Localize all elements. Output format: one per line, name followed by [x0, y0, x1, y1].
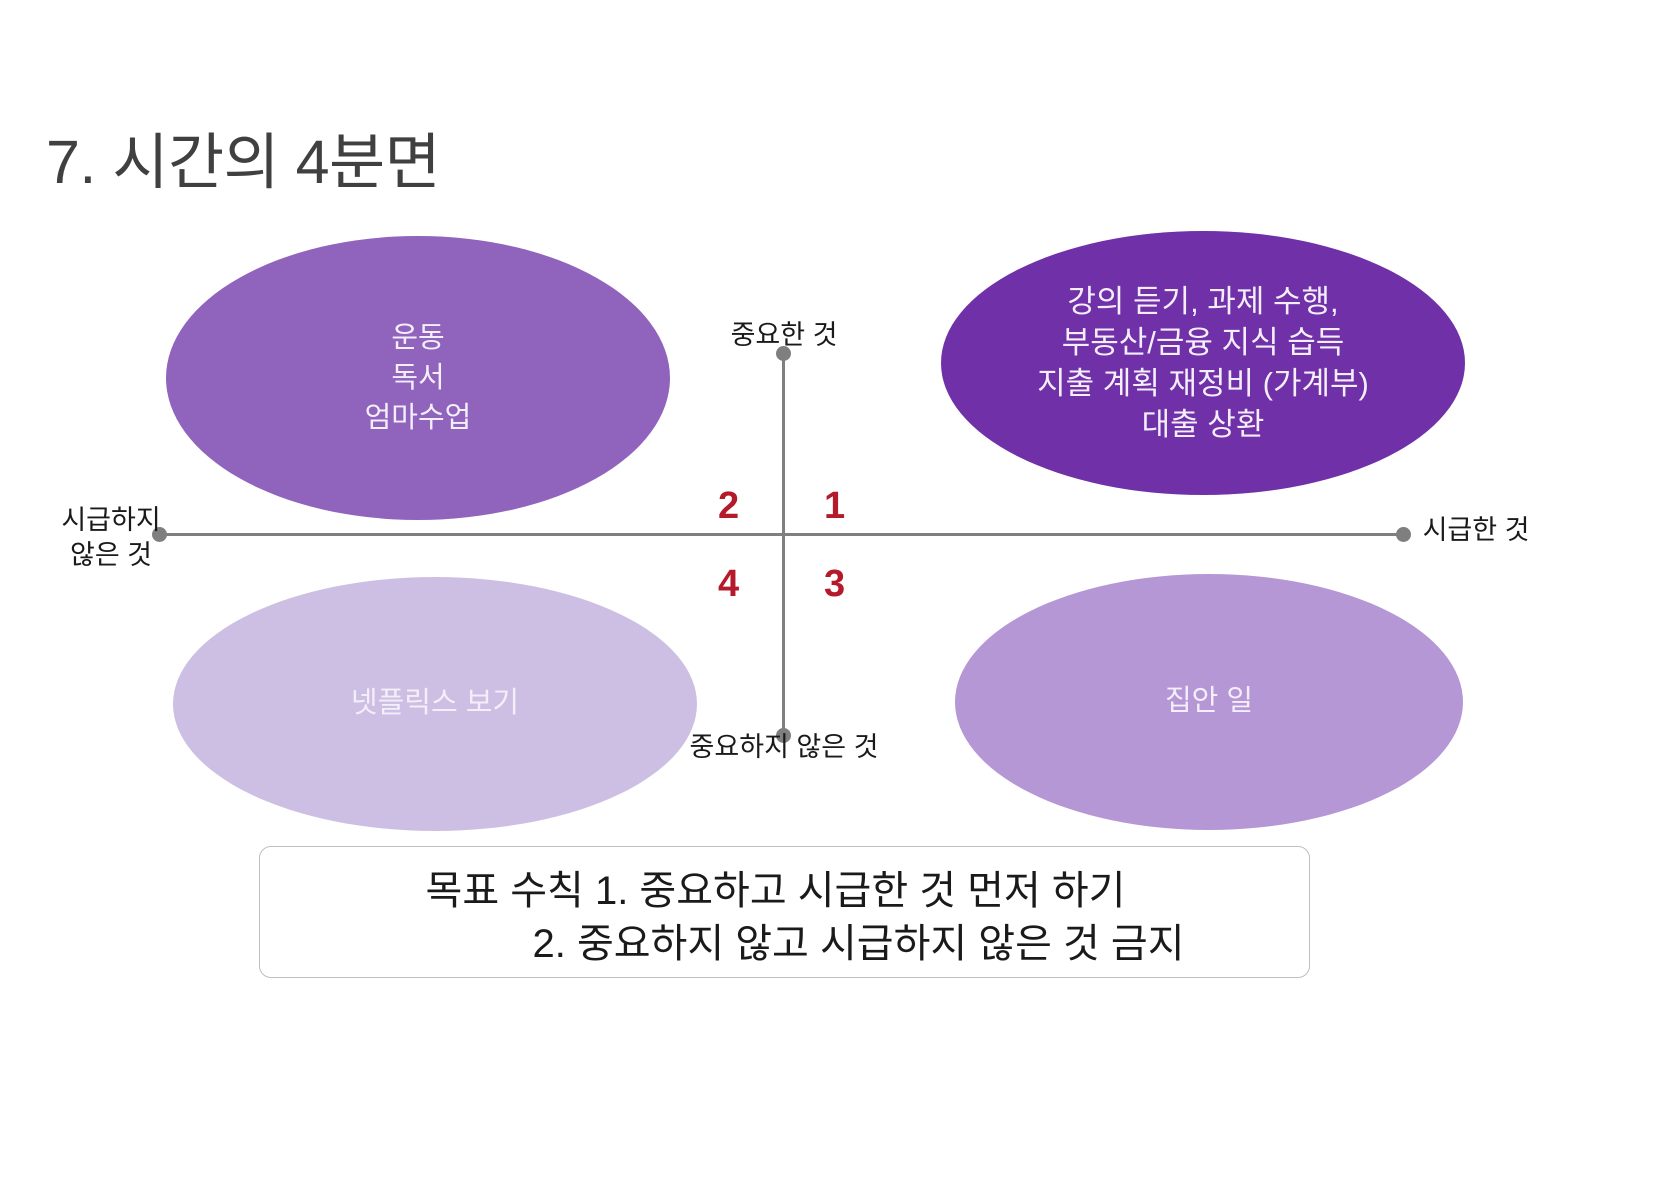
- goal-rule-line-2: 2. 중요하지 않고 시급하지 않은 것 금지: [288, 918, 1281, 971]
- vertical-axis-line: [782, 352, 785, 735]
- quadrant-4-ellipse[interactable]: 넷플릭스 보기: [173, 577, 697, 831]
- goal-rules-box: 목표 수칙 1. 중요하고 시급한 것 먼저 하기 2. 중요하지 않고 시급하…: [259, 846, 1310, 978]
- quadrant-number-4: 4: [718, 563, 739, 606]
- axis-label-not-important: 중요하지 않은 것: [676, 730, 892, 765]
- quadrant-4-text: 넷플릭스 보기: [173, 684, 697, 723]
- quadrant-1-text: 강의 듣기, 과제 수행,부동산/금융 지식 습득지출 계획 재정비 (가계부)…: [941, 281, 1465, 446]
- quadrant-2-ellipse[interactable]: 운동독서엄마수업: [166, 236, 670, 520]
- quadrant-1-ellipse[interactable]: 강의 듣기, 과제 수행,부동산/금융 지식 습득지출 계획 재정비 (가계부)…: [941, 231, 1465, 495]
- axis-label-urgent: 시급한 것: [1418, 513, 1534, 548]
- page-title: 7. 시간의 4분면: [46, 128, 440, 196]
- axis-label-important: 중요한 것: [700, 318, 868, 353]
- axis-endpoint-dot-right: [1396, 527, 1411, 542]
- slide-canvas: 7. 시간의 4분면 운동독서엄마수업 강의 듣기, 과제 수행,부동산/금융 …: [0, 0, 1667, 1179]
- quadrant-number-1: 1: [824, 485, 845, 528]
- quadrant-number-3: 3: [824, 563, 845, 606]
- horizontal-axis-line: [158, 533, 1403, 536]
- axis-label-not-urgent: 시급하지 않은 것: [52, 503, 170, 572]
- quadrant-3-ellipse[interactable]: 집안 일: [955, 574, 1463, 830]
- quadrant-2-text: 운동독서엄마수업: [166, 318, 670, 438]
- quadrant-3-text: 집안 일: [955, 682, 1463, 721]
- goal-rule-line-1: 목표 수칙 1. 중요하고 시급한 것 먼저 하기: [288, 865, 1281, 918]
- quadrant-number-2: 2: [718, 485, 739, 528]
